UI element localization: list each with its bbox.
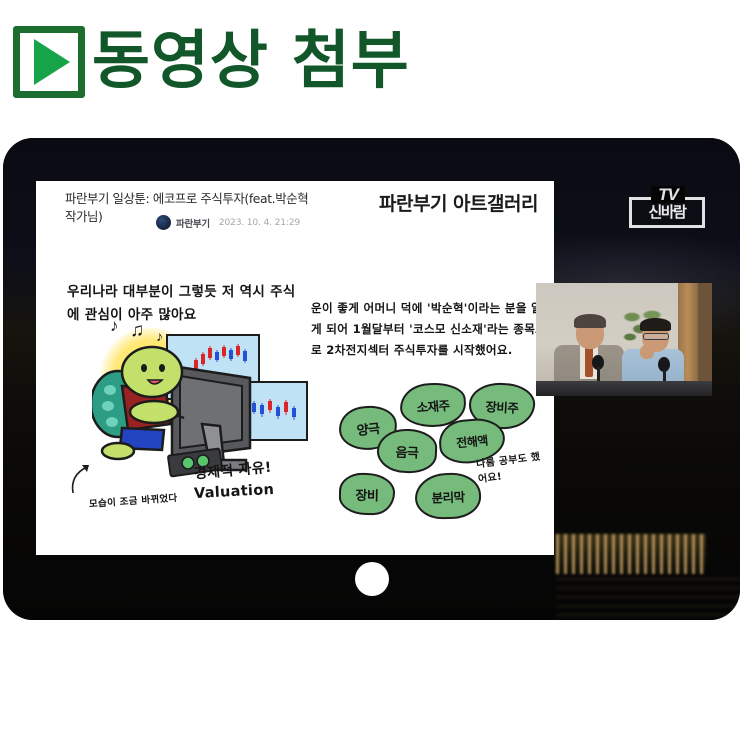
channel-logo-name: 신바람 xyxy=(629,202,705,222)
music-note-icon: ♪ xyxy=(110,316,119,336)
author-name: 파란부기 xyxy=(176,216,210,230)
video-attach-header: 동영상 첨부 xyxy=(0,0,743,131)
change-arrow-icon xyxy=(69,459,95,495)
author-avatar xyxy=(156,215,171,230)
channel-logo-tv-label: TV xyxy=(651,186,685,203)
post-timestamp: 2023. 10. 4. 21:29 xyxy=(219,217,300,228)
home-button[interactable] xyxy=(355,562,389,596)
video-table xyxy=(536,381,712,396)
turtle-character xyxy=(92,338,212,463)
water-reflection-decoration xyxy=(556,578,740,620)
play-triangle-icon xyxy=(34,39,70,85)
door-panel-decoration xyxy=(698,283,712,396)
channel-logo: TV 신바람 xyxy=(629,186,705,228)
post-header: 파란부기 일상툰: 에코프로 주식투자(feat.박순혁 작가님) 파란부기 2… xyxy=(36,181,554,239)
play-icon xyxy=(13,26,85,98)
right-caption-text: 운이 좋게 어머니 덕에 '박순혁'이라는 분을 알게 되어 1월달부터 '코스… xyxy=(311,298,551,361)
concept-bubble: 장비 xyxy=(339,473,396,516)
concept-bubble: 분리막 xyxy=(414,472,482,520)
gallery-title: 파란부기 아트갤러리 xyxy=(379,189,538,216)
concept-bubble: 음극 xyxy=(376,428,437,474)
speaker-right-hair xyxy=(640,318,671,331)
comic-page: 파란부기 일상툰: 에코프로 주식투자(feat.박순혁 작가님) 파란부기 2… xyxy=(36,181,554,555)
speaker-left-hair xyxy=(574,314,606,328)
speaker-right-glasses xyxy=(643,333,669,340)
city-lights-decoration xyxy=(556,534,706,574)
post-byline: 파란부기 2023. 10. 4. 21:29 xyxy=(156,215,300,230)
speaker-right-hand xyxy=(640,345,654,359)
speakers-video-inset[interactable] xyxy=(536,283,712,396)
page-title: 동영상 첨부 xyxy=(92,16,410,106)
